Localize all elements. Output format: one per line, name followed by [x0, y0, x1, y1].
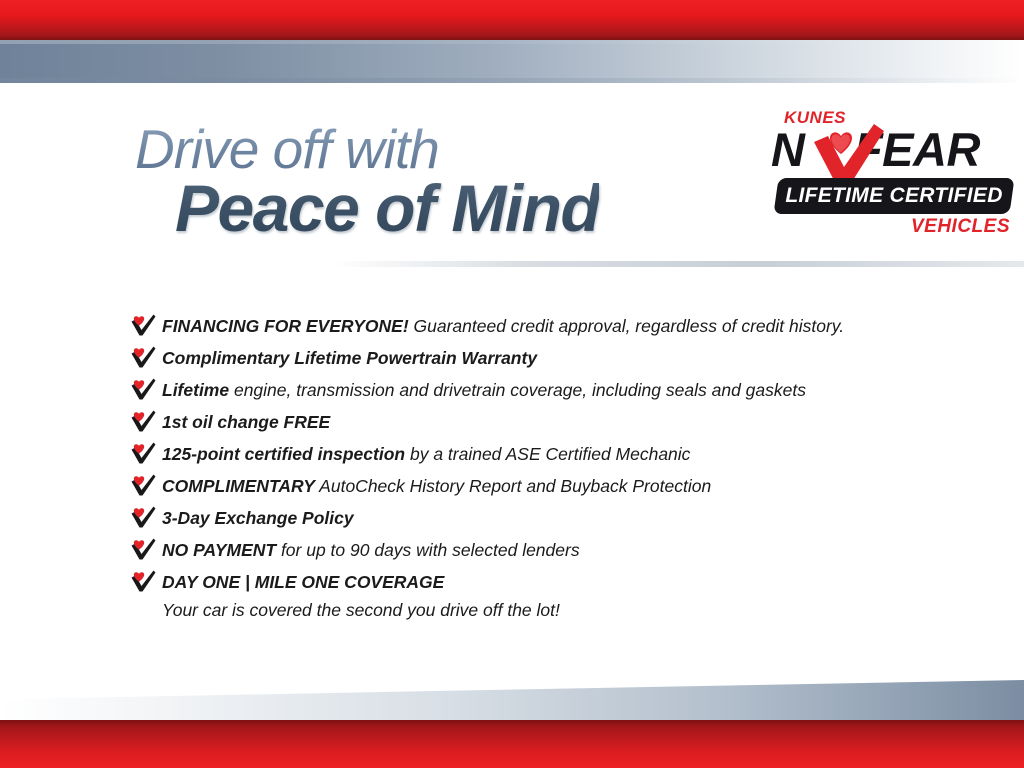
benefit-text-bold: Complimentary Lifetime Powertrain Warran…	[162, 348, 537, 368]
check-heart-icon	[130, 314, 156, 336]
benefit-text-bold: 125-point certified inspection	[162, 444, 405, 464]
benefit-text-bold: NO PAYMENT	[162, 540, 276, 560]
top-red-band	[0, 0, 1024, 40]
benefit-text-normal: for up to 90 days with selected lenders	[276, 540, 580, 560]
benefit-text-bold: DAY ONE | MILE ONE COVERAGE	[162, 572, 444, 592]
logo-vehicles-text: VEHICLES	[911, 216, 1010, 238]
check-heart-icon	[130, 410, 156, 432]
benefit-text: 3-Day Exchange Policy	[162, 502, 354, 534]
check-heart-icon	[130, 346, 156, 368]
top-gray-band	[0, 40, 1024, 83]
benefit-text-bold: FINANCING FOR EVERYONE!	[162, 316, 409, 336]
benefit-item: Lifetime engine, transmission and drivet…	[130, 374, 1010, 406]
headline-line-2: Peace of Mind	[175, 175, 599, 242]
benefit-text: COMPLIMENTARY AutoCheck History Report a…	[162, 470, 711, 502]
benefit-item: Complimentary Lifetime Powertrain Warran…	[130, 342, 1010, 374]
kunes-no-fear-logo: KUNES NFEAR LIFETIME CERTIFIED VEHICLES	[768, 108, 1016, 243]
bottom-red-band	[0, 720, 1024, 768]
benefit-item: 3-Day Exchange Policy	[130, 502, 1010, 534]
benefit-item: NO PAYMENT for up to 90 days with select…	[130, 534, 1010, 566]
benefit-item: DAY ONE | MILE ONE COVERAGEYour car is c…	[130, 566, 1010, 622]
benefit-subtext: Your car is covered the second you drive…	[162, 598, 560, 622]
check-heart-icon	[130, 442, 156, 464]
advertisement-canvas: Drive off with Peace of Mind KUNES NFEAR…	[0, 0, 1024, 768]
benefit-text-bold: 3-Day Exchange Policy	[162, 508, 354, 528]
benefit-text-bold: 1st oil change FREE	[162, 412, 330, 432]
headline: Drive off with Peace of Mind	[135, 122, 599, 242]
logo-certified-bar-text: LIFETIME CERTIFIED	[776, 178, 1012, 214]
benefit-text-normal: engine, transmission and drivetrain cove…	[229, 380, 806, 400]
benefit-text: Complimentary Lifetime Powertrain Warran…	[162, 342, 537, 374]
benefit-item: 1st oil change FREE	[130, 406, 1010, 438]
benefits-list: FINANCING FOR EVERYONE! Guaranteed credi…	[130, 310, 1010, 622]
check-heart-icon	[130, 538, 156, 560]
benefit-text-normal: Guaranteed credit approval, regardless o…	[409, 316, 844, 336]
benefit-text-normal: by a trained ASE Certified Mechanic	[405, 444, 690, 464]
benefit-item: FINANCING FOR EVERYONE! Guaranteed credi…	[130, 310, 1010, 342]
bottom-gray-band	[0, 680, 1024, 720]
logo-letter-n: N	[771, 123, 804, 176]
benefit-text: NO PAYMENT for up to 90 days with select…	[162, 534, 580, 566]
top-gray-band-sheen	[0, 40, 1024, 44]
benefit-text: 125-point certified inspection by a trai…	[162, 438, 690, 470]
benefit-text-normal: AutoCheck History Report and Buyback Pro…	[315, 476, 711, 496]
check-heart-icon	[130, 378, 156, 400]
benefit-text-bold: COMPLIMENTARY	[162, 476, 315, 496]
headline-divider	[330, 261, 1024, 267]
check-heart-icon	[130, 474, 156, 496]
check-heart-icon	[130, 570, 156, 592]
benefit-text: DAY ONE | MILE ONE COVERAGE	[162, 566, 560, 598]
benefit-item: COMPLIMENTARY AutoCheck History Report a…	[130, 470, 1010, 502]
benefit-text-bold: Lifetime	[162, 380, 229, 400]
benefit-item: 125-point certified inspection by a trai…	[130, 438, 1010, 470]
benefit-text: 1st oil change FREE	[162, 406, 330, 438]
benefit-text: Lifetime engine, transmission and drivet…	[162, 374, 806, 406]
check-heart-icon	[130, 506, 156, 528]
headline-line-1: Drive off with	[135, 122, 599, 177]
benefit-text: FINANCING FOR EVERYONE! Guaranteed credi…	[162, 310, 844, 342]
